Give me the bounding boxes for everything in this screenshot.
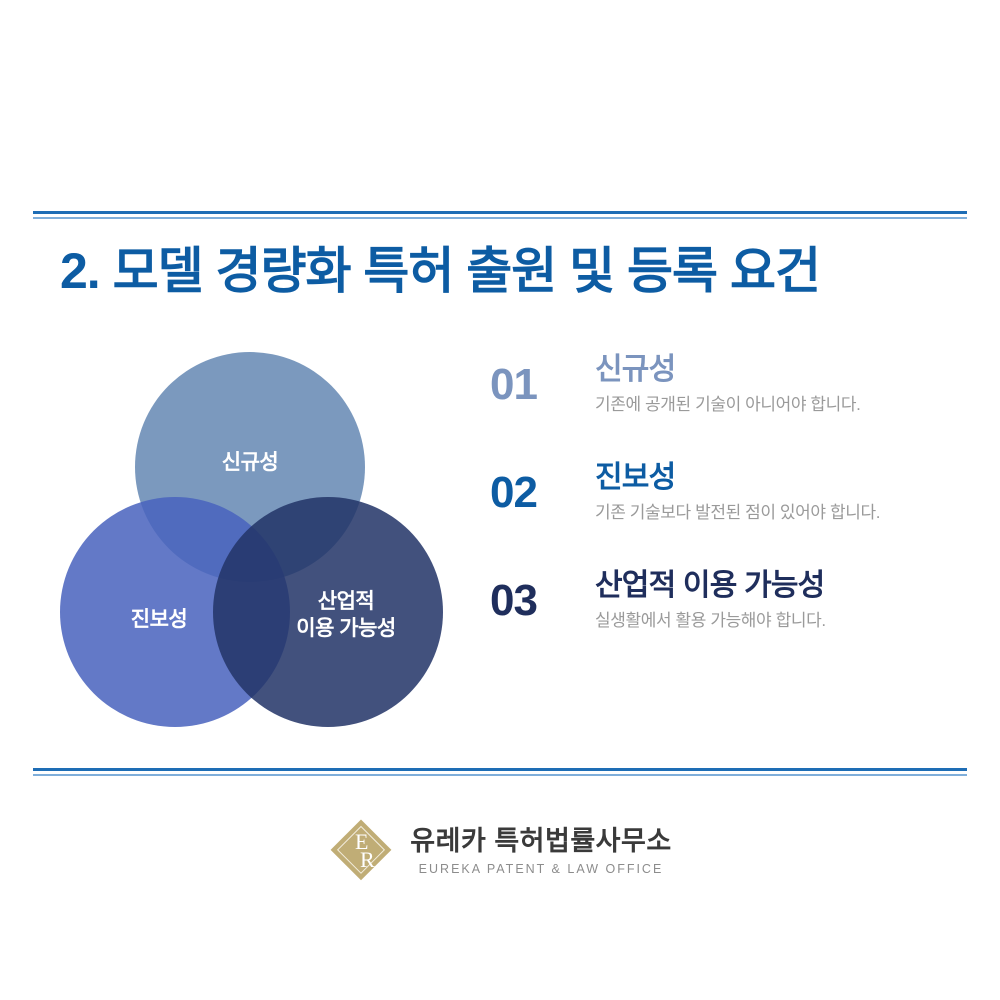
venn-diagram: 신규성 진보성 산업적 이용 가능성 — [55, 352, 445, 742]
venn-label-industrial-applicability: 산업적 이용 가능성 — [296, 589, 395, 643]
requirement-number-02: 02 — [490, 460, 595, 515]
requirement-item-01: 01 신규성 기존에 공개된 기술이 아니어야 합니다. — [490, 352, 960, 416]
venn-label-industrial-line2: 이용 가능성 — [296, 617, 395, 640]
divider-bottom — [33, 768, 967, 776]
requirement-body-03: 산업적 이용 가능성 실생활에서 활용 가능해야 합니다. — [595, 568, 960, 632]
requirement-list: 01 신규성 기존에 공개된 기술이 아니어야 합니다. 02 진보성 기존 기… — [490, 352, 960, 676]
requirement-description-02: 기존 기술보다 발전된 점이 있어야 합니다. — [595, 502, 960, 524]
venn-label-industrial-line1: 산업적 — [318, 590, 374, 613]
logo-name-english: EUREKA PATENT & LAW OFFICE — [410, 862, 671, 876]
venn-label-inventive-step: 진보성 — [131, 607, 187, 634]
divider-top — [33, 211, 967, 219]
divider-bottom-thin-rule — [33, 774, 967, 776]
slide-canvas: 2. 모델 경량화 특허 출원 및 등록 요건 신규성 진보성 산업적 이용 가… — [0, 0, 1000, 1000]
requirement-body-02: 진보성 기존 기술보다 발전된 점이 있어야 합니다. — [595, 460, 960, 524]
logo-wordmark: 유레카 특허법률사무소 EUREKA PATENT & LAW OFFICE — [410, 826, 671, 876]
requirement-item-02: 02 진보성 기존 기술보다 발전된 점이 있어야 합니다. — [490, 460, 960, 524]
page-title: 2. 모델 경량화 특허 출원 및 등록 요건 — [60, 243, 950, 301]
venn-circle-industrial-applicability: 산업적 이용 가능성 — [213, 497, 443, 727]
logo-name-korean: 유레카 특허법률사무소 — [410, 826, 671, 857]
requirement-item-03: 03 산업적 이용 가능성 실생활에서 활용 가능해야 합니다. — [490, 568, 960, 632]
requirement-number-03: 03 — [490, 568, 595, 623]
svg-text:R: R — [360, 847, 375, 872]
requirement-body-01: 신규성 기존에 공개된 기술이 아니어야 합니다. — [595, 352, 960, 416]
requirement-description-01: 기존에 공개된 기술이 아니어야 합니다. — [595, 394, 960, 416]
requirement-title-03: 산업적 이용 가능성 — [595, 568, 960, 604]
requirement-title-02: 진보성 — [595, 460, 960, 496]
requirement-title-01: 신규성 — [595, 352, 960, 388]
venn-label-novelty: 신규성 — [222, 450, 278, 477]
divider-top-thin-rule — [33, 217, 967, 219]
footer-logo: E R 유레카 특허법률사무소 EUREKA PATENT & LAW OFFI… — [0, 805, 1000, 895]
eureka-diamond-icon: E R — [328, 817, 394, 883]
requirement-number-01: 01 — [490, 352, 595, 407]
requirement-description-03: 실생활에서 활용 가능해야 합니다. — [595, 610, 960, 632]
